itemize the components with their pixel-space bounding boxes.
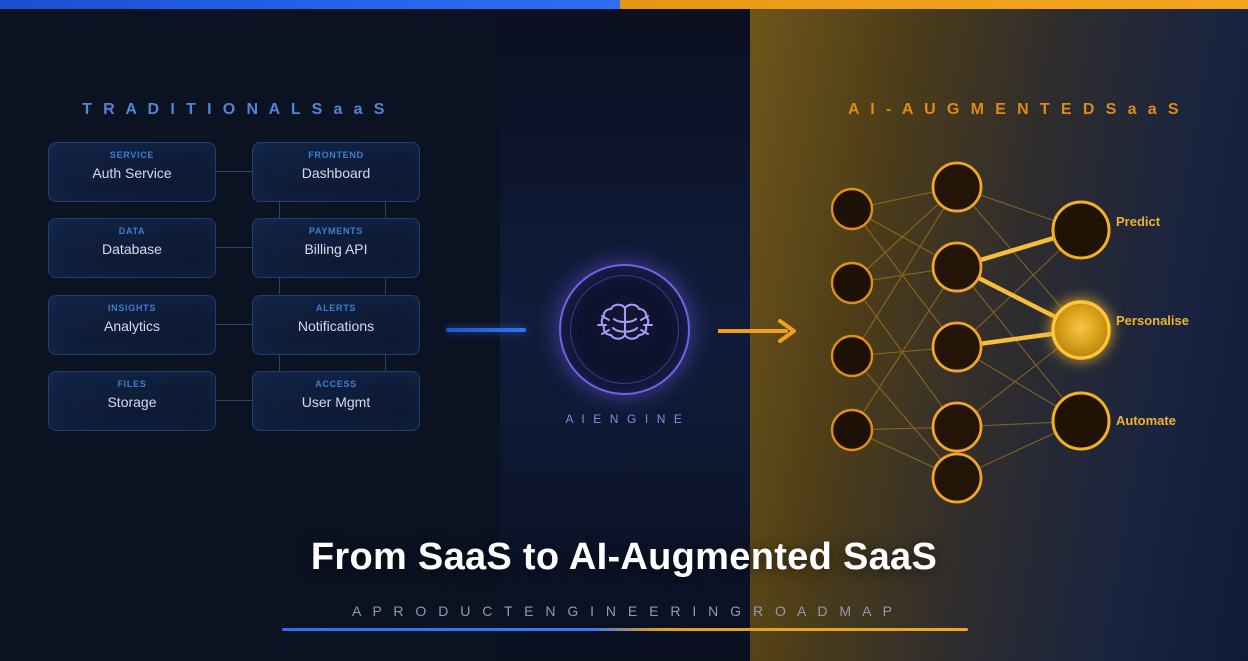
flow-connector-left — [446, 328, 526, 332]
card-dashboard[interactable]: FRONTEND Dashboard — [252, 142, 420, 202]
ai-engine-node[interactable] — [559, 264, 690, 395]
card-title: Storage — [49, 394, 215, 410]
card-title: Dashboard — [253, 165, 419, 181]
card-connector — [385, 200, 386, 218]
card-connector — [214, 171, 252, 172]
card-connector — [279, 353, 280, 371]
card-database[interactable]: DATA Database — [48, 218, 216, 278]
card-kicker: PAYMENTS — [253, 226, 419, 236]
card-kicker: SERVICE — [49, 150, 215, 160]
output-node-highlighted — [1053, 302, 1109, 358]
brain-icon — [586, 295, 664, 365]
card-connector — [279, 276, 280, 294]
card-kicker: DATA — [49, 226, 215, 236]
output-label-predict: Predict — [1116, 214, 1160, 229]
card-connector — [214, 247, 252, 248]
card-title: Notifications — [253, 318, 419, 334]
card-analytics[interactable]: INSIGHTS Analytics — [48, 295, 216, 355]
card-title: Billing API — [253, 241, 419, 257]
topbar-accent-blue — [0, 0, 620, 9]
card-kicker: FRONTEND — [253, 150, 419, 160]
card-connector — [214, 324, 252, 325]
card-storage[interactable]: FILES Storage — [48, 371, 216, 431]
output-label-automate: Automate — [1116, 413, 1176, 428]
card-connector — [385, 353, 386, 371]
output-layer — [1053, 202, 1109, 449]
card-title: Analytics — [49, 318, 215, 334]
card-kicker: ALERTS — [253, 303, 419, 313]
card-title: User Mgmt — [253, 394, 419, 410]
footer-divider — [282, 628, 968, 631]
card-kicker: INSIGHTS — [49, 303, 215, 313]
engine-label: A I E N G I N E — [500, 412, 750, 426]
card-title: Auth Service — [49, 165, 215, 181]
output-label-personalise: Personalise — [1116, 313, 1189, 328]
card-auth-service[interactable]: SERVICE Auth Service — [48, 142, 216, 202]
infographic-canvas: T R A D I T I O N A L S a a S A I - A U … — [0, 0, 1248, 661]
page-title: From SaaS to AI-Augmented SaaS — [0, 536, 1248, 579]
card-connector — [279, 200, 280, 218]
page-subtitle: A P R O D U C T E N G I N E E R I N G R … — [0, 603, 1248, 619]
card-kicker: FILES — [49, 379, 215, 389]
card-kicker: ACCESS — [253, 379, 419, 389]
card-connector — [385, 276, 386, 294]
card-title: Database — [49, 241, 215, 257]
card-connector — [214, 400, 252, 401]
card-user-mgmt[interactable]: ACCESS User Mgmt — [252, 371, 420, 431]
card-billing-api[interactable]: PAYMENTS Billing API — [252, 218, 420, 278]
heading-traditional-saas: T R A D I T I O N A L S a a S — [0, 101, 470, 119]
card-notifications[interactable]: ALERTS Notifications — [252, 295, 420, 355]
